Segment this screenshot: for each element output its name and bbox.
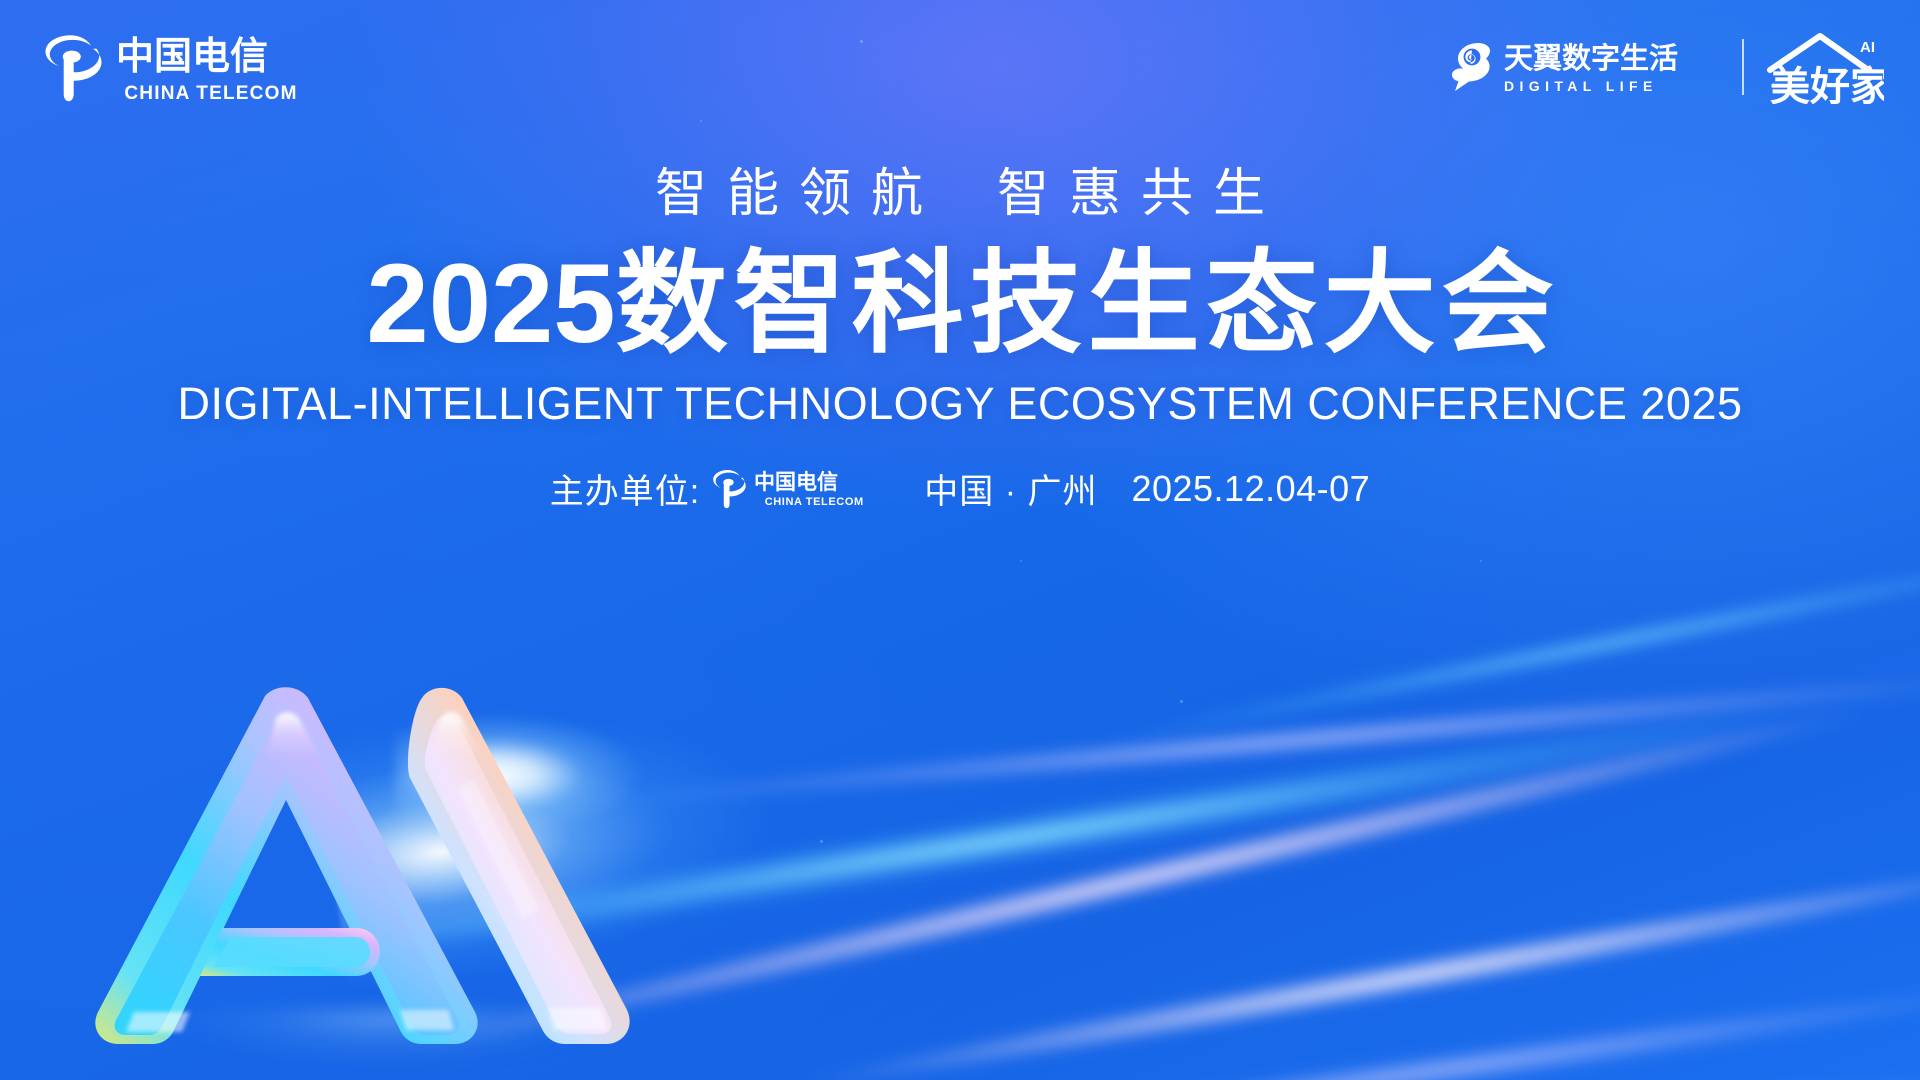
china-telecom-swoosh-icon	[40, 32, 102, 104]
china-telecom-chinese-name: 中国电信	[754, 469, 874, 494]
sparkle-speck	[1180, 700, 1183, 703]
event-meta-row: 主办单位: 中国电信 CHINA TELECOM 中国 · 广州 2025.12…	[0, 464, 1920, 513]
poster-main-content: 智能领航智惠共生 2025数智科技生态大会 DIGITAL-INTELLIGEN…	[0, 166, 1920, 513]
china-telecom-english-name: CHINA TELECOM	[124, 84, 297, 103]
event-subtitle-english: DIGITAL-INTELLIGENT TECHNOLOGY ECOSYSTEM…	[0, 379, 1920, 429]
tagline-left: 智能领航	[655, 165, 943, 223]
china-telecom-english-name: CHINA TELECOM	[765, 497, 864, 508]
svg-text:中国电信: 中国电信	[116, 34, 268, 78]
poster-header: 中国电信 CHINA TELECOM 天翼数字生活 DIGITAL LIFE	[0, 0, 1920, 150]
sparkle-speck	[1480, 560, 1482, 562]
ai-letter-a-crossbar-face	[214, 937, 370, 967]
organizer-wordmark: 中国电信 CHINA TELECOM	[754, 469, 874, 508]
digital-life-english-name: DIGITAL LIFE	[1504, 79, 1722, 93]
poster-canvas: 中国电信 CHINA TELECOM 天翼数字生活 DIGITAL LIFE	[0, 0, 1920, 1080]
light-ribbon-blue-low	[746, 883, 1920, 1080]
china-telecom-logo: 中国电信 CHINA TELECOM	[40, 32, 306, 104]
logo-divider	[1742, 39, 1744, 95]
digital-life-logo: 天翼数字生活 DIGITAL LIFE	[1447, 41, 1722, 93]
house-roof-icon: AI 美好家	[1764, 30, 1884, 104]
sparkle-speck	[820, 840, 823, 843]
partner-logo-group: 天翼数字生活 DIGITAL LIFE AI 美好家	[1447, 30, 1884, 104]
meihaojia-logo: AI 美好家	[1764, 30, 1884, 104]
event-tagline: 智能领航智惠共生	[0, 166, 1920, 223]
headline-year: 2025	[366, 241, 615, 366]
meihaojia-chinese-name: 美好家	[1770, 64, 1884, 104]
ai-letter-a-gloss-right	[400, 1010, 454, 1030]
ai-monogram-3d	[70, 660, 710, 1080]
event-location: 中国 · 广州	[924, 464, 1097, 513]
ai-letter-a-face	[115, 716, 460, 1035]
svg-text:天翼数字生活: 天翼数字生活	[1504, 41, 1678, 75]
digital-life-chinese-name: 天翼数字生活	[1504, 41, 1722, 75]
sparkle-speck	[1020, 560, 1022, 562]
organizer-label: 主办单位:	[550, 464, 700, 513]
ai-badge-text: AI	[1860, 39, 1875, 56]
china-telecom-swoosh-icon	[710, 468, 746, 510]
digital-life-swirl-icon	[1447, 41, 1493, 93]
tagline-right: 智惠共生	[997, 165, 1285, 223]
ai-letter-a-gloss-left	[126, 1012, 190, 1032]
digital-life-wordmark: 天翼数字生活 DIGITAL LIFE	[1504, 41, 1722, 93]
svg-text:中国电信: 中国电信	[754, 470, 838, 494]
event-headline: 2025数智科技生态大会	[0, 245, 1920, 363]
event-date: 2025.12.04-07	[1131, 468, 1370, 510]
ai-monogram-graphic	[70, 660, 710, 1080]
china-telecom-chinese-name: 中国电信	[116, 33, 306, 79]
ai-letter-i-gloss-bottom	[548, 1008, 608, 1030]
light-ribbon-violet	[621, 771, 1920, 1080]
organizer-logo: 中国电信 CHINA TELECOM	[710, 468, 874, 510]
headline-chinese: 数智科技生态大会	[616, 241, 1560, 366]
china-telecom-wordmark: 中国电信 CHINA TELECOM	[116, 33, 306, 103]
